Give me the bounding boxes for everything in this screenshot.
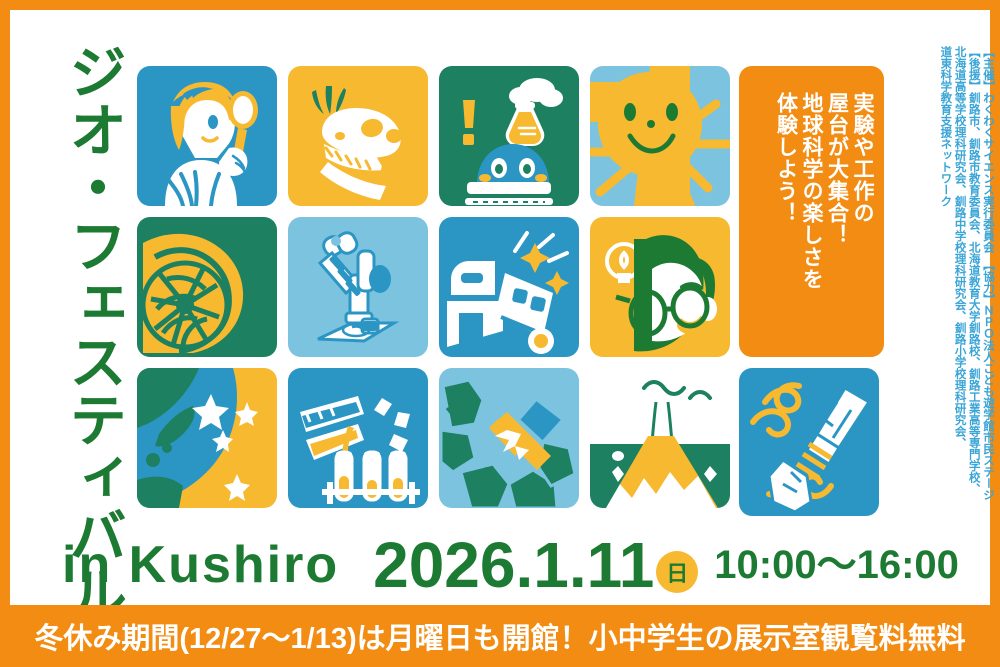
tile-dinosaur-skull-icon — [288, 66, 428, 206]
bottom-banner-text: 冬休み期間(12/27〜1/13)は月曜日も開館！小中学生の展示室観覧料無料 — [34, 615, 965, 657]
page-title: ジオ・フェスティバル — [48, 42, 122, 532]
tile-ammonite-fossil-icon — [137, 217, 277, 357]
headline-date: 2026.1.11 — [373, 533, 654, 597]
credits-line-3: 北海道高等学校理科研究会、釧路中学校理科研究会、釧路小学校理科研究会、 — [952, 46, 965, 449]
callout-line-2: 屋台が大集合！ — [825, 92, 849, 246]
tile-test-tubes-icon — [288, 368, 428, 508]
tile-science-truck-icon — [439, 217, 579, 357]
weekday-badge: 日 — [656, 551, 698, 593]
icon-grid — [137, 66, 729, 516]
tile-boy-with-idea-icon — [590, 217, 730, 357]
tile-plastic-bottle-experiment-icon — [739, 368, 879, 516]
credits-line-2: 【後援】釧路市、釧路市教育委員会、北海道教育大学釧路校、釧路工業高等専門学校、 — [967, 46, 980, 495]
callout-line-1: 実験や工作の — [850, 92, 874, 224]
tile-earth-and-stars-icon — [137, 368, 277, 508]
headline-row: in Kushiro 2026.1.11 日 10:00〜16:00 — [10, 525, 990, 605]
tile-microscope-icon — [288, 217, 428, 357]
credits-block: 【主催】わくわくサイエンス実行委員会 【協力】ＮＰＯ法人こども遊学館市民ステージ… — [894, 46, 994, 526]
credits-line-4: 道東科学教育支援ネットワーク — [938, 46, 951, 207]
bottom-banner: 冬休み期間(12/27〜1/13)は月曜日も開館！小中学生の展示室観覧料無料 — [0, 605, 1000, 667]
poster-root: ジオ・フェスティバル — [0, 0, 1000, 667]
tile-girl-with-magnifier-icon — [137, 66, 277, 206]
callout-box: 実験や工作の 屋台が大集合！ 地球科学の楽しさを 体験しよう！ — [739, 66, 884, 357]
tile-experiment-flask-icon — [439, 66, 579, 206]
callout-line-4: 体験しよう！ — [774, 92, 798, 224]
tile-rock-hammer-icon — [439, 368, 579, 508]
tile-volcano-icon — [590, 368, 730, 508]
tile-sun-icon — [590, 66, 730, 206]
headline-location: in Kushiro — [62, 539, 339, 591]
credits-line-1: 【主催】わくわくサイエンス実行委員会 【協力】ＮＰＯ法人こども遊学館市民ステージ — [981, 46, 994, 500]
callout-line-3: 地球科学の楽しさを — [799, 92, 823, 290]
poster-stage: ジオ・フェスティバル — [10, 10, 990, 605]
headline-time: 10:00〜16:00 — [714, 545, 959, 585]
